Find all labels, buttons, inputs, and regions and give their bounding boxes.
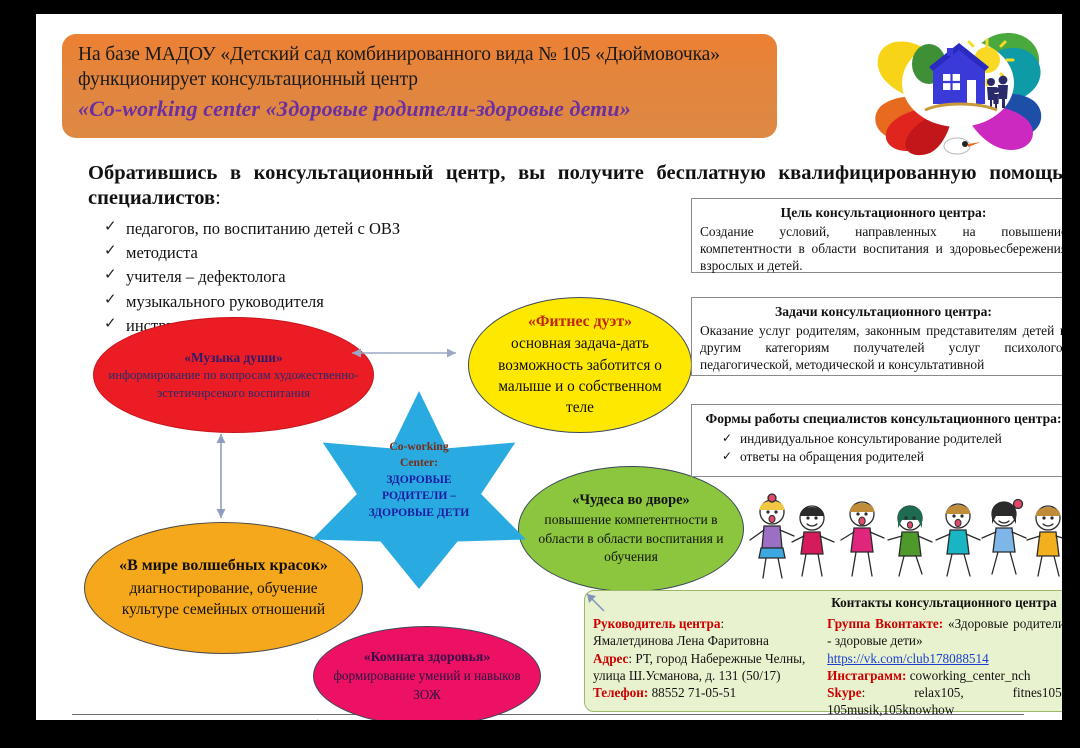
tasks-box-body: Оказание услуг родителям, законным предс…	[700, 322, 1062, 374]
footer-doc-number: -478/19	[294, 718, 330, 720]
list-item-label: учителя – дефектолога	[126, 267, 286, 286]
ellipse-health-room: «Комната здоровья» формирование умений и…	[313, 626, 541, 720]
child-figure	[982, 500, 1026, 575]
contacts-phone-row: Телефон: 88552 71-05-51	[593, 684, 821, 701]
contacts-head-label: Руководитель центра	[593, 616, 720, 631]
contacts-phone-value: 88552 71-05-51	[652, 685, 737, 700]
ellipse-yard-title: «Чудеса во дворе»	[533, 491, 729, 511]
center-star-line-1: Co-working	[389, 440, 448, 453]
forms-box-title: Формы работы специалистов консультационн…	[700, 410, 1062, 428]
children-illustration	[742, 490, 1062, 586]
contacts-box: Контакты консультационного центра Руково…	[584, 590, 1062, 712]
intro-heading-text: Обратившись в консультационный центр, вы…	[88, 162, 1062, 184]
header-subtitle: «Co-working center «Здоровые родители-зд…	[78, 96, 763, 122]
list-item: ✓ответы на обращения родителей	[700, 448, 1062, 467]
tasks-box-title: Задачи консультационного центра:	[700, 303, 1062, 321]
ellipse-health-text: «Комната здоровья» формирование умений и…	[314, 647, 540, 704]
child-figure	[888, 506, 932, 576]
contacts-title: Контакты консультационного центра	[821, 595, 1062, 611]
list-item-label: ответы на обращения родителей	[740, 449, 924, 464]
ellipse-health-title: «Комната здоровья»	[328, 647, 526, 667]
contacts-right-column: Группа Вконтакте: «Здоровые родители - з…	[827, 615, 1062, 719]
child-figure	[792, 506, 834, 576]
forms-list: ✓индивидуальное консультирование родител…	[700, 430, 1062, 467]
center-star: Co-working Center: ЗДОРОВЫЕ РОДИТЕЛИ – З…	[312, 391, 526, 589]
ellipse-yard-wonders: «Чудеса во дворе» повышение компетентнос…	[518, 466, 744, 592]
goal-box-title: Цель консультационного центра:	[700, 204, 1062, 222]
slide-page: На базе МАДОУ «Детский сад комбинированн…	[36, 14, 1062, 720]
center-star-line-5: ЗДОРОВЫЕ ДЕТИ	[369, 506, 470, 519]
contacts-head-sep: :	[720, 616, 724, 631]
list-item-label: педагогов, по воспитанию детей с ОВЗ	[126, 219, 400, 238]
intro-heading-tail: специалистов	[88, 187, 215, 209]
rainbow-house-logo-svg	[848, 26, 1062, 159]
check-icon: ✓	[722, 448, 732, 465]
stork-icon	[944, 138, 981, 154]
tasks-box: Задачи консультационного центра: Оказани…	[691, 297, 1062, 376]
child-figure	[841, 502, 884, 576]
ellipse-health-body: формирование умений и навыков ЗОЖ	[333, 668, 520, 702]
contacts-insta-value: coworking_center_nch	[910, 668, 1031, 683]
intro-heading-colon: :	[215, 187, 221, 209]
check-icon: ✓	[722, 430, 732, 447]
contacts-skype-sep: :	[862, 685, 866, 700]
contacts-insta-row: Инстаграмм: coworking_center_nch	[827, 667, 1062, 684]
center-star-line-2: Center:	[400, 456, 438, 469]
center-star-text: Co-working Center: ЗДОРОВЫЕ РОДИТЕЛИ – З…	[312, 439, 526, 521]
ellipse-yard-body: повышение компетентности в области в обл…	[538, 512, 723, 565]
children-illustration-svg	[742, 490, 1062, 586]
center-star-line-3: ЗДОРОВЫЕ	[386, 473, 451, 486]
contacts-head-row: Руководитель центра:	[593, 615, 821, 632]
check-icon: ✓	[104, 264, 117, 286]
header-banner: На базе МАДОУ «Детский сад комбинированн…	[62, 34, 777, 138]
ellipse-yard-text: «Чудеса во дворе» повышение компетентнос…	[519, 491, 743, 567]
contacts-head-value: Ямалетдинова Лена Фаритовна	[593, 632, 821, 649]
contacts-vk-label: Группа Вконтакте:	[827, 616, 943, 631]
child-figure	[936, 504, 980, 576]
list-item-label: индивидуальное консультирование родителе…	[740, 431, 1002, 446]
ellipse-colors-body: диагностирование, обучение культуре семе…	[122, 580, 325, 619]
child-figure	[750, 494, 794, 578]
vk-group-link[interactable]: https://vk.com/club178088514	[827, 650, 1062, 667]
arrow-vertical-double	[212, 426, 230, 526]
contacts-skype-row: Skype: relax105, fitnes105, 105musik,105…	[827, 684, 1062, 719]
contacts-phone-label: Телефон:	[593, 685, 648, 700]
check-icon: ✓	[104, 240, 117, 262]
ellipse-music-title: «Музыка души»	[108, 348, 359, 367]
check-icon: ✓	[104, 313, 117, 335]
header-line-2: функционирует консультационный центр	[78, 68, 763, 93]
rainbow-house-logo	[848, 26, 1062, 159]
contacts-address-sep: :	[628, 651, 632, 666]
list-item-label: музыкального руководителя	[126, 292, 324, 311]
center-star-line-4: РОДИТЕЛИ –	[382, 489, 456, 502]
child-figure	[1027, 506, 1062, 576]
forms-box: Формы работы специалистов консультационн…	[691, 404, 1062, 477]
ellipse-fitness-title: «Фитнес дуэт»	[483, 311, 677, 333]
header-line-1: На базе МАДОУ «Детский сад комбинированн…	[78, 43, 763, 68]
ellipse-colors-title: «В мире волшебных красок»	[99, 555, 348, 577]
arrow-to-contacts	[582, 589, 608, 615]
arrow-horizontal-double	[342, 344, 466, 362]
footer-dot-1: -	[258, 717, 262, 720]
check-icon: ✓	[104, 289, 117, 311]
list-item: ✓индивидуальное консультирование родител…	[700, 430, 1062, 449]
check-icon: ✓	[104, 216, 117, 238]
footer-dot-2: -	[556, 717, 560, 720]
contacts-insta-label: Инстаграмм:	[827, 668, 906, 683]
contacts-skype-label: Skype	[827, 685, 861, 700]
contacts-address-row: Адрес: РТ, город Набережные Челны, улица…	[593, 650, 821, 685]
list-item-label: методиста	[126, 243, 198, 262]
goal-box-body: Создание условий, направленных на повыше…	[700, 223, 1062, 275]
slide-canvas: На базе МАДОУ «Детский сад комбинированн…	[0, 0, 1080, 748]
contacts-address-label: Адрес	[593, 651, 628, 666]
contacts-vk-row: Группа Вконтакте: «Здоровые родители - з…	[827, 615, 1062, 650]
footer-dot-3: -	[575, 717, 579, 720]
contacts-columns: Руководитель центра: Ямалетдинова Лена Ф…	[593, 615, 1062, 719]
contacts-left-column: Руководитель центра: Ямалетдинова Лена Ф…	[593, 615, 821, 719]
goal-box: Цель консультационного центра: Создание …	[691, 198, 1062, 273]
